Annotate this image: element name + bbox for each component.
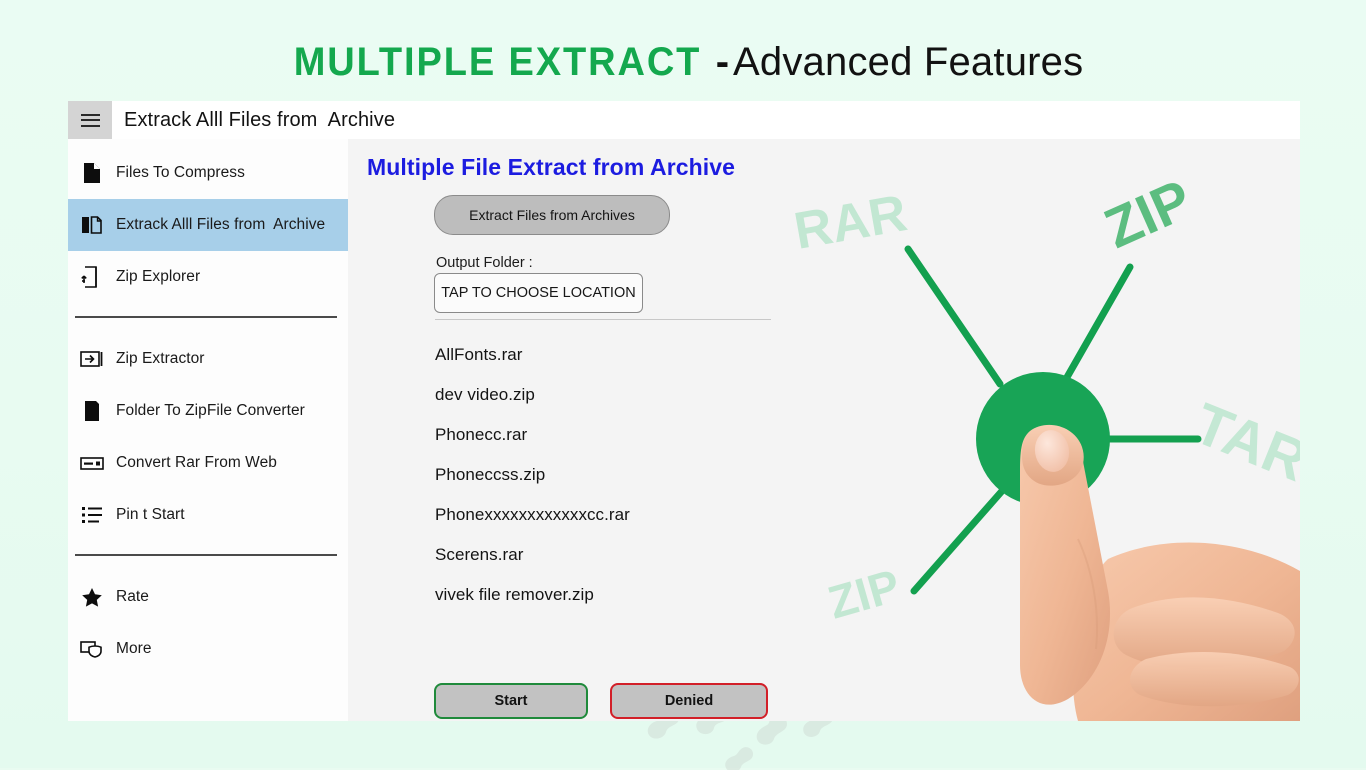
two-files-icon: [68, 215, 116, 235]
sidebar-item-zip-explorer[interactable]: Zip Explorer: [68, 251, 348, 303]
sidebar-label: Zip Extractor: [116, 350, 205, 368]
output-folder-label: Output Folder :: [436, 255, 533, 271]
sidebar-group-tools: Zip Extractor Folder To ZipFile Converte…: [68, 331, 348, 541]
star-icon: [68, 587, 116, 608]
sidebar-label: More: [116, 640, 152, 658]
hamburger-menu-icon[interactable]: [68, 101, 112, 139]
sidebar-label: Rate: [116, 588, 149, 606]
sidebar-label: Files To Compress: [116, 164, 245, 182]
folder-solid-icon: [68, 400, 116, 422]
sidebar-item-rate[interactable]: Rate: [68, 571, 348, 623]
page-title: Multiple File Extract from Archive: [367, 154, 735, 181]
list-item[interactable]: Phoneccss.zip: [435, 455, 955, 495]
sidebar-divider-2: [75, 554, 337, 556]
file-list: AllFonts.rar dev video.zip Phonecc.rar P…: [435, 335, 955, 615]
list-item[interactable]: AllFonts.rar: [435, 335, 955, 375]
list-item[interactable]: Scerens.rar: [435, 535, 955, 575]
more-shield-window-icon: [68, 639, 116, 659]
headline-green-text: MULTIPLE EXTRACT: [293, 40, 701, 85]
sidebar-label: Extrack Alll Files from Archive: [116, 216, 325, 234]
sidebar-item-folder-to-zipfile-converter[interactable]: Folder To ZipFile Converter: [68, 385, 348, 437]
list-bullets-icon: [68, 505, 116, 525]
sidebar-label: Convert Rar From Web: [116, 454, 277, 472]
list-item[interactable]: Phonexxxxxxxxxxxxcc.rar: [435, 495, 955, 535]
choose-location-button[interactable]: TAP TO CHOOSE LOCATION: [434, 273, 643, 313]
content-foreground: Multiple File Extract from Archive Extra…: [348, 139, 1300, 721]
title-bar: Extrack Alll Files from Archive: [68, 101, 1300, 139]
sidebar-divider-1: [75, 316, 337, 318]
sidebar-item-extract-all-files[interactable]: Extrack Alll Files from Archive: [68, 199, 348, 251]
content-pane: RAR ZIP TAR ZIP: [348, 139, 1300, 721]
sidebar-label: Folder To ZipFile Converter: [116, 402, 305, 420]
content-divider: [435, 319, 771, 320]
headline-black-text: Advanced Features: [733, 40, 1083, 84]
window-title: Extrack Alll Files from Archive: [124, 109, 395, 132]
sidebar-label: Zip Explorer: [116, 268, 200, 286]
extract-files-from-archives-button[interactable]: Extract Files from Archives: [434, 195, 670, 235]
hamburger-bars: [81, 114, 100, 127]
denied-button[interactable]: Denied: [610, 683, 768, 719]
sidebar-item-zip-extractor[interactable]: Zip Extractor: [68, 333, 348, 385]
action-row: Start Denied: [434, 683, 768, 719]
headline-dash: -: [712, 40, 733, 84]
list-item[interactable]: Phonecc.rar: [435, 415, 955, 455]
sidebar-item-pin-to-start[interactable]: Pin t Start: [68, 489, 348, 541]
sidebar-group-secondary: Rate More: [68, 569, 348, 675]
sidebar-item-files-to-compress[interactable]: Files To Compress: [68, 147, 348, 199]
file-arrow-up-icon: [68, 265, 116, 289]
sidebar-group-primary: Files To Compress Extrack Alll Files fro…: [68, 139, 348, 303]
sidebar-label: Pin t Start: [116, 506, 185, 524]
list-item[interactable]: dev video.zip: [435, 375, 955, 415]
file-page-icon: [68, 162, 116, 184]
web-bar-icon: [68, 457, 116, 470]
list-item[interactable]: vivek file remover.zip: [435, 575, 955, 615]
sidebar: Files To Compress Extrack Alll Files fro…: [68, 139, 348, 721]
sidebar-item-convert-rar-from-web[interactable]: Convert Rar From Web: [68, 437, 348, 489]
sidebar-item-more[interactable]: More: [68, 623, 348, 675]
app-window: Extrack Alll Files from Archive Files To…: [68, 101, 1300, 721]
promo-headline: MULTIPLE EXTRACT-Advanced Features: [0, 40, 1366, 85]
start-button[interactable]: Start: [434, 683, 588, 719]
import-arrow-icon: [68, 351, 116, 367]
